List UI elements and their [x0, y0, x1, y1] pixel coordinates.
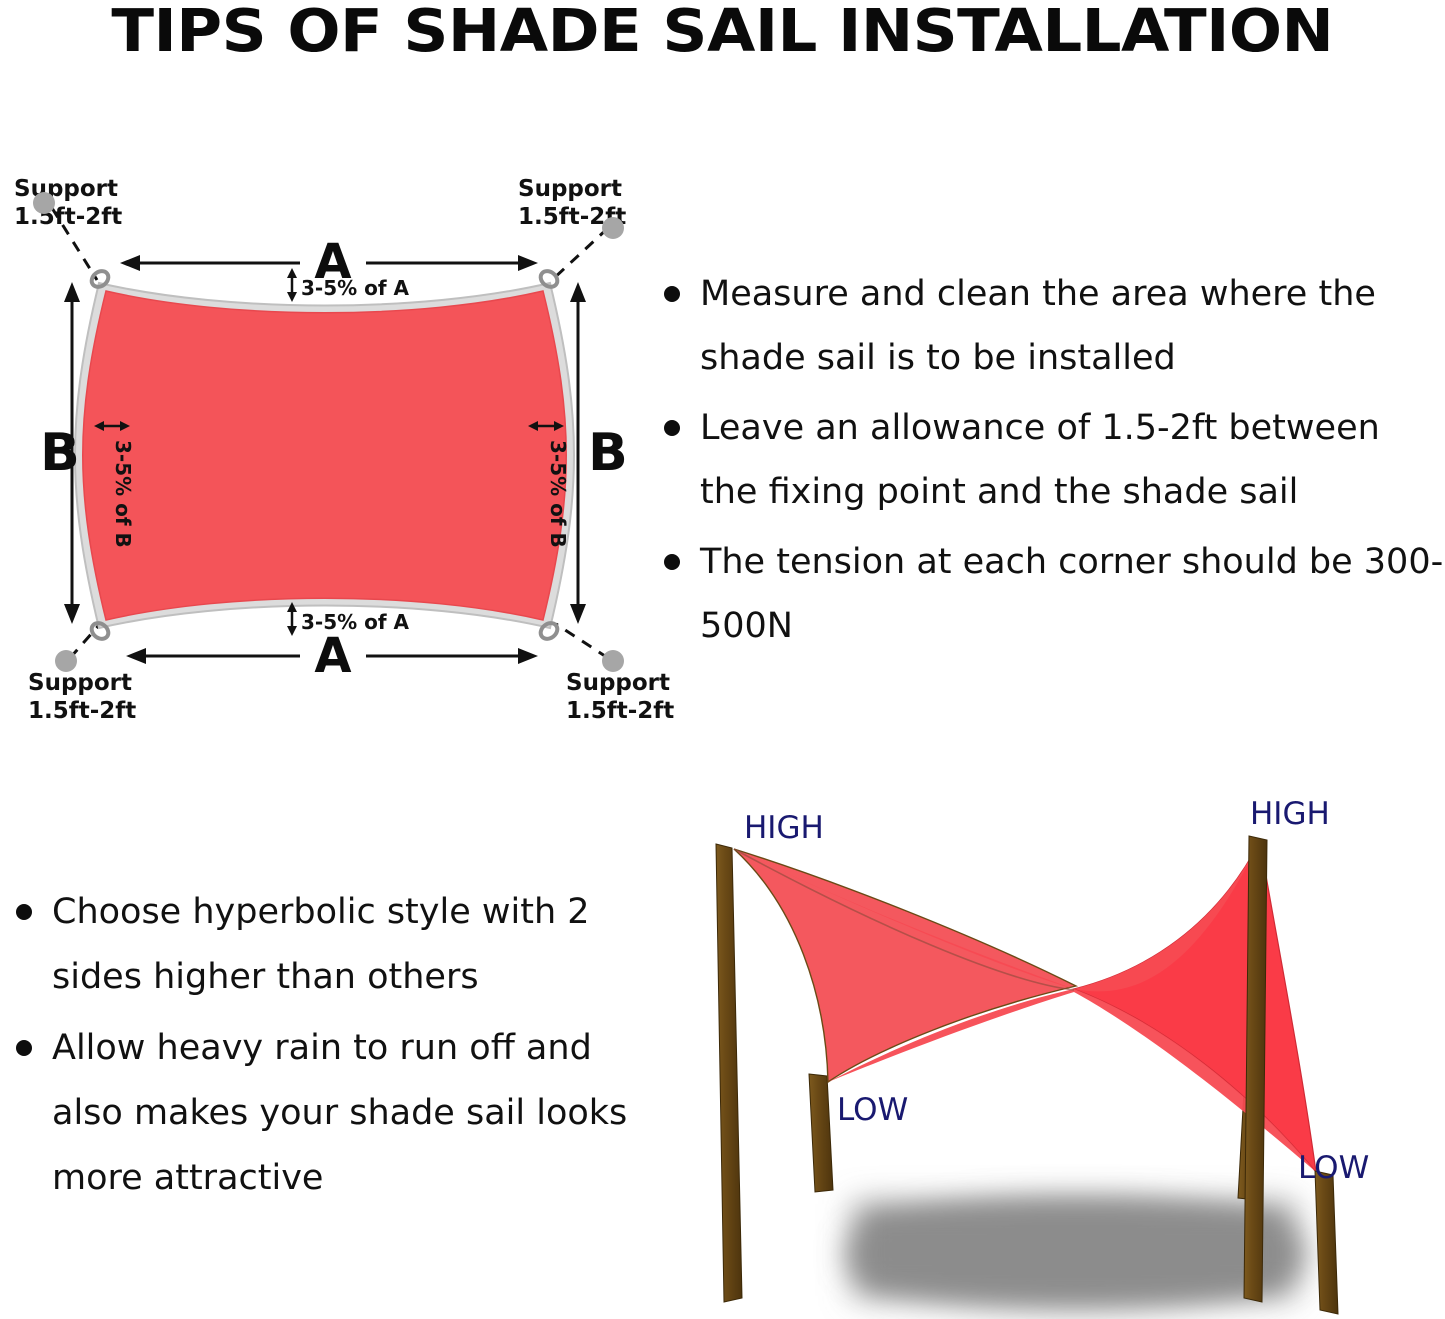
support-anchor-bottom-right — [602, 650, 624, 672]
support-label-bottom-left: Support 1.5ft-2ft — [28, 670, 136, 724]
label-low-left: LOW — [837, 1092, 908, 1128]
tip-text: Allow heavy rain to run off and also mak… — [52, 1028, 627, 1198]
shade-sail-dimension-diagram: Support 1.5ft-2ft Support 1.5ft-2ft Supp… — [0, 150, 660, 750]
hyperbolic-shade-sail-illustration: HIGH HIGH LOW LOW — [676, 786, 1445, 1319]
list-item: Measure and clean the area where the sha… — [648, 262, 1445, 390]
tip-text: Leave an allowance of 1.5-2ft between th… — [700, 408, 1380, 512]
support-anchor-top-right — [602, 217, 624, 239]
support-label-bottom-left-line2: 1.5ft-2ft — [28, 698, 136, 724]
bullet-icon — [16, 1040, 32, 1056]
dimension-arrow-left: B — [40, 282, 80, 624]
hyperbolic-style-tips-list: Choose hyperbolic style with 2 sides hig… — [0, 880, 630, 1217]
support-label-bottom-right-line2: 1.5ft-2ft — [566, 698, 674, 724]
tether-line-bottom-left — [70, 624, 100, 658]
sag-label-right: 3-5% of B — [546, 440, 570, 548]
bullet-icon — [664, 286, 680, 302]
support-anchor-bottom-left — [55, 650, 77, 672]
dimension-label-bottom-A: A — [314, 628, 351, 684]
sag-label-top: 3-5% of A — [301, 276, 410, 300]
label-low-right: LOW — [1298, 1150, 1369, 1186]
list-item: The tension at each corner should be 300… — [648, 530, 1445, 658]
shade-sail-fabric — [83, 291, 567, 620]
support-label-bottom-left-line1: Support — [28, 670, 132, 696]
tether-line-bottom-right — [556, 624, 608, 658]
bullet-icon — [16, 904, 32, 920]
support-label-bottom-right-line1: Support — [566, 670, 670, 696]
ground-shadow-rect — [854, 1204, 1294, 1296]
label-high-left: HIGH — [744, 810, 824, 846]
sag-label-bottom: 3-5% of A — [301, 610, 410, 634]
page-title-text: TIPS OF SHADE SAIL INSTALLATION — [112, 1, 1334, 60]
dimension-arrow-bottom: A — [126, 628, 538, 684]
support-label-top-right-line1: Support — [518, 176, 622, 202]
list-item: Allow heavy rain to run off and also mak… — [0, 1016, 630, 1211]
dimension-label-right-B: B — [588, 423, 628, 483]
support-label-bottom-right: Support 1.5ft-2ft — [566, 670, 674, 724]
support-anchor-top-left — [33, 192, 55, 214]
post-low-right — [1315, 1171, 1338, 1314]
tip-text: Choose hyperbolic style with 2 sides hig… — [52, 892, 590, 997]
dimension-arrow-right: B — [570, 282, 628, 624]
support-label-top-left-line1: Support — [14, 176, 118, 202]
tip-text: The tension at each corner should be 300… — [700, 542, 1443, 646]
installation-tips-list: Measure and clean the area where the sha… — [648, 262, 1445, 664]
page-title: TIPS OF SHADE SAIL INSTALLATION — [0, 0, 1445, 60]
list-item: Choose hyperbolic style with 2 sides hig… — [0, 880, 630, 1010]
bullet-icon — [664, 420, 680, 436]
post-low-left — [809, 1074, 833, 1192]
support-label-top-left-line2: 1.5ft-2ft — [14, 204, 122, 230]
label-high-right: HIGH — [1250, 796, 1330, 832]
dimension-label-left-B: B — [40, 423, 80, 483]
sag-label-left: 3-5% of B — [111, 440, 135, 548]
list-item: Leave an allowance of 1.5-2ft between th… — [648, 396, 1445, 524]
support-label-top-left: Support 1.5ft-2ft — [14, 176, 122, 230]
bullet-icon — [664, 554, 680, 570]
tether-line-top-right — [552, 228, 608, 280]
tip-text: Measure and clean the area where the sha… — [700, 274, 1376, 378]
post-high-left — [716, 844, 742, 1302]
